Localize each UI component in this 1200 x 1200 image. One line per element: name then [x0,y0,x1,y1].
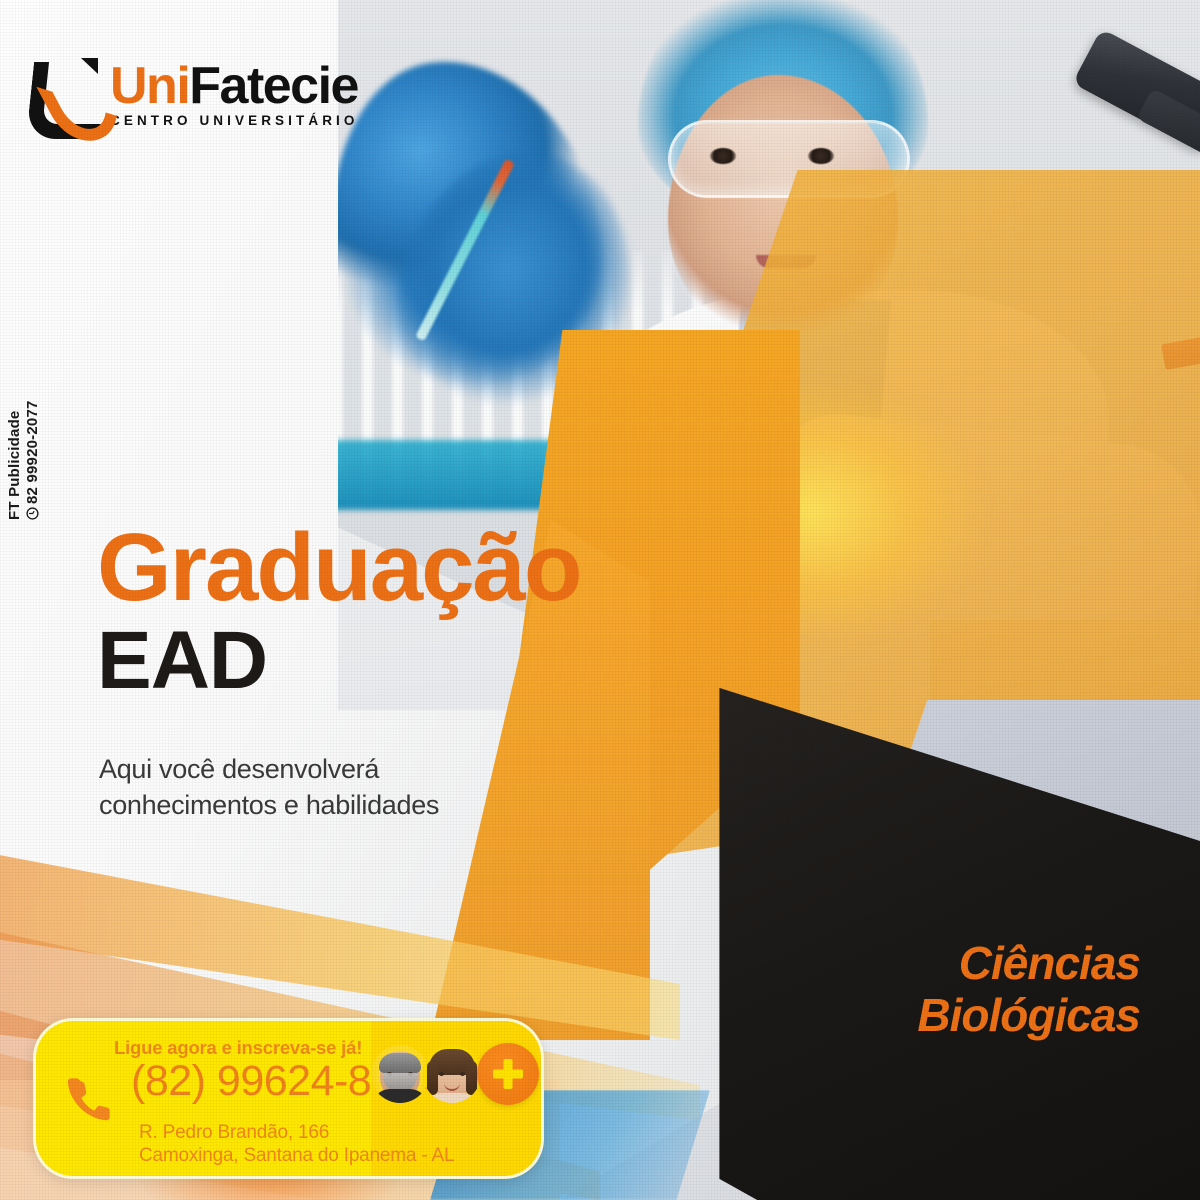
avatar-man-hair [379,1053,421,1073]
tagline-line-1: Aqui você desenvolverá [99,752,439,788]
card-address-line-1: R. Pedro Brandão, 166 [139,1121,454,1144]
phone-handset-icon [64,1073,116,1125]
card-address-line-2: Camoxinga, Santana do Ipanema - AL [139,1144,454,1167]
unifatecie-logo: UniFatecie CENTRO UNIVERSITÁRIO [26,58,359,130]
agency-name: FT Publicidade [6,400,23,520]
card-cta-text: Ligue agora e inscreva-se já! [114,1037,362,1059]
avatar-man [371,1045,429,1103]
eye-left [710,148,736,164]
avatar-group [371,1043,539,1105]
logo-word-uni: Uni [110,57,189,115]
headline-main: Graduação [97,522,581,614]
logo-u-mark-icon [26,58,102,130]
agency-phone: 82 99920-2077 [24,400,41,504]
logo-wordmark: UniFatecie CENTRO UNIVERSITÁRIO [110,60,359,128]
headline-secondary: EAD [97,620,581,702]
avatar-woman [423,1045,481,1103]
logo-word: UniFatecie [110,60,359,112]
contact-card[interactable]: Ligue agora e inscreva-se já! (82) 99624… [33,1018,544,1179]
course-title: Ciências Biológicas [700,938,1140,1041]
logo-word-fatecie: Fatecie [189,57,358,115]
avatar-man-shoulders [372,1089,428,1103]
eye-right [808,148,834,164]
tagline-line-2: conhecimentos e habilidades [99,788,439,824]
avatar-woman-eyes [439,1072,465,1076]
tagline: Aqui você desenvolverá conhecimentos e h… [99,752,439,823]
card-address: R. Pedro Brandão, 166 Camoxinga, Santana… [139,1121,454,1167]
poster-canvas: UniFatecie CENTRO UNIVERSITÁRIO FT Publi… [0,0,1200,1200]
plus-badge-icon[interactable] [477,1043,539,1105]
course-title-line-1: Ciências [700,938,1140,990]
avatar-woman-shoulders [426,1093,478,1103]
logo-subtitle: CENTRO UNIVERSITÁRIO [110,114,359,128]
headline-block: Graduação EAD [97,522,581,702]
whatsapp-icon [26,507,39,520]
agency-credit: FT Publicidade 82 99920-2077 [6,400,41,520]
course-title-line-2: Biológicas [700,990,1140,1042]
avatar-woman-hair-right [466,1061,477,1095]
avatar-woman-hair-left [427,1061,438,1095]
agency-phone-row: 82 99920-2077 [24,400,41,520]
